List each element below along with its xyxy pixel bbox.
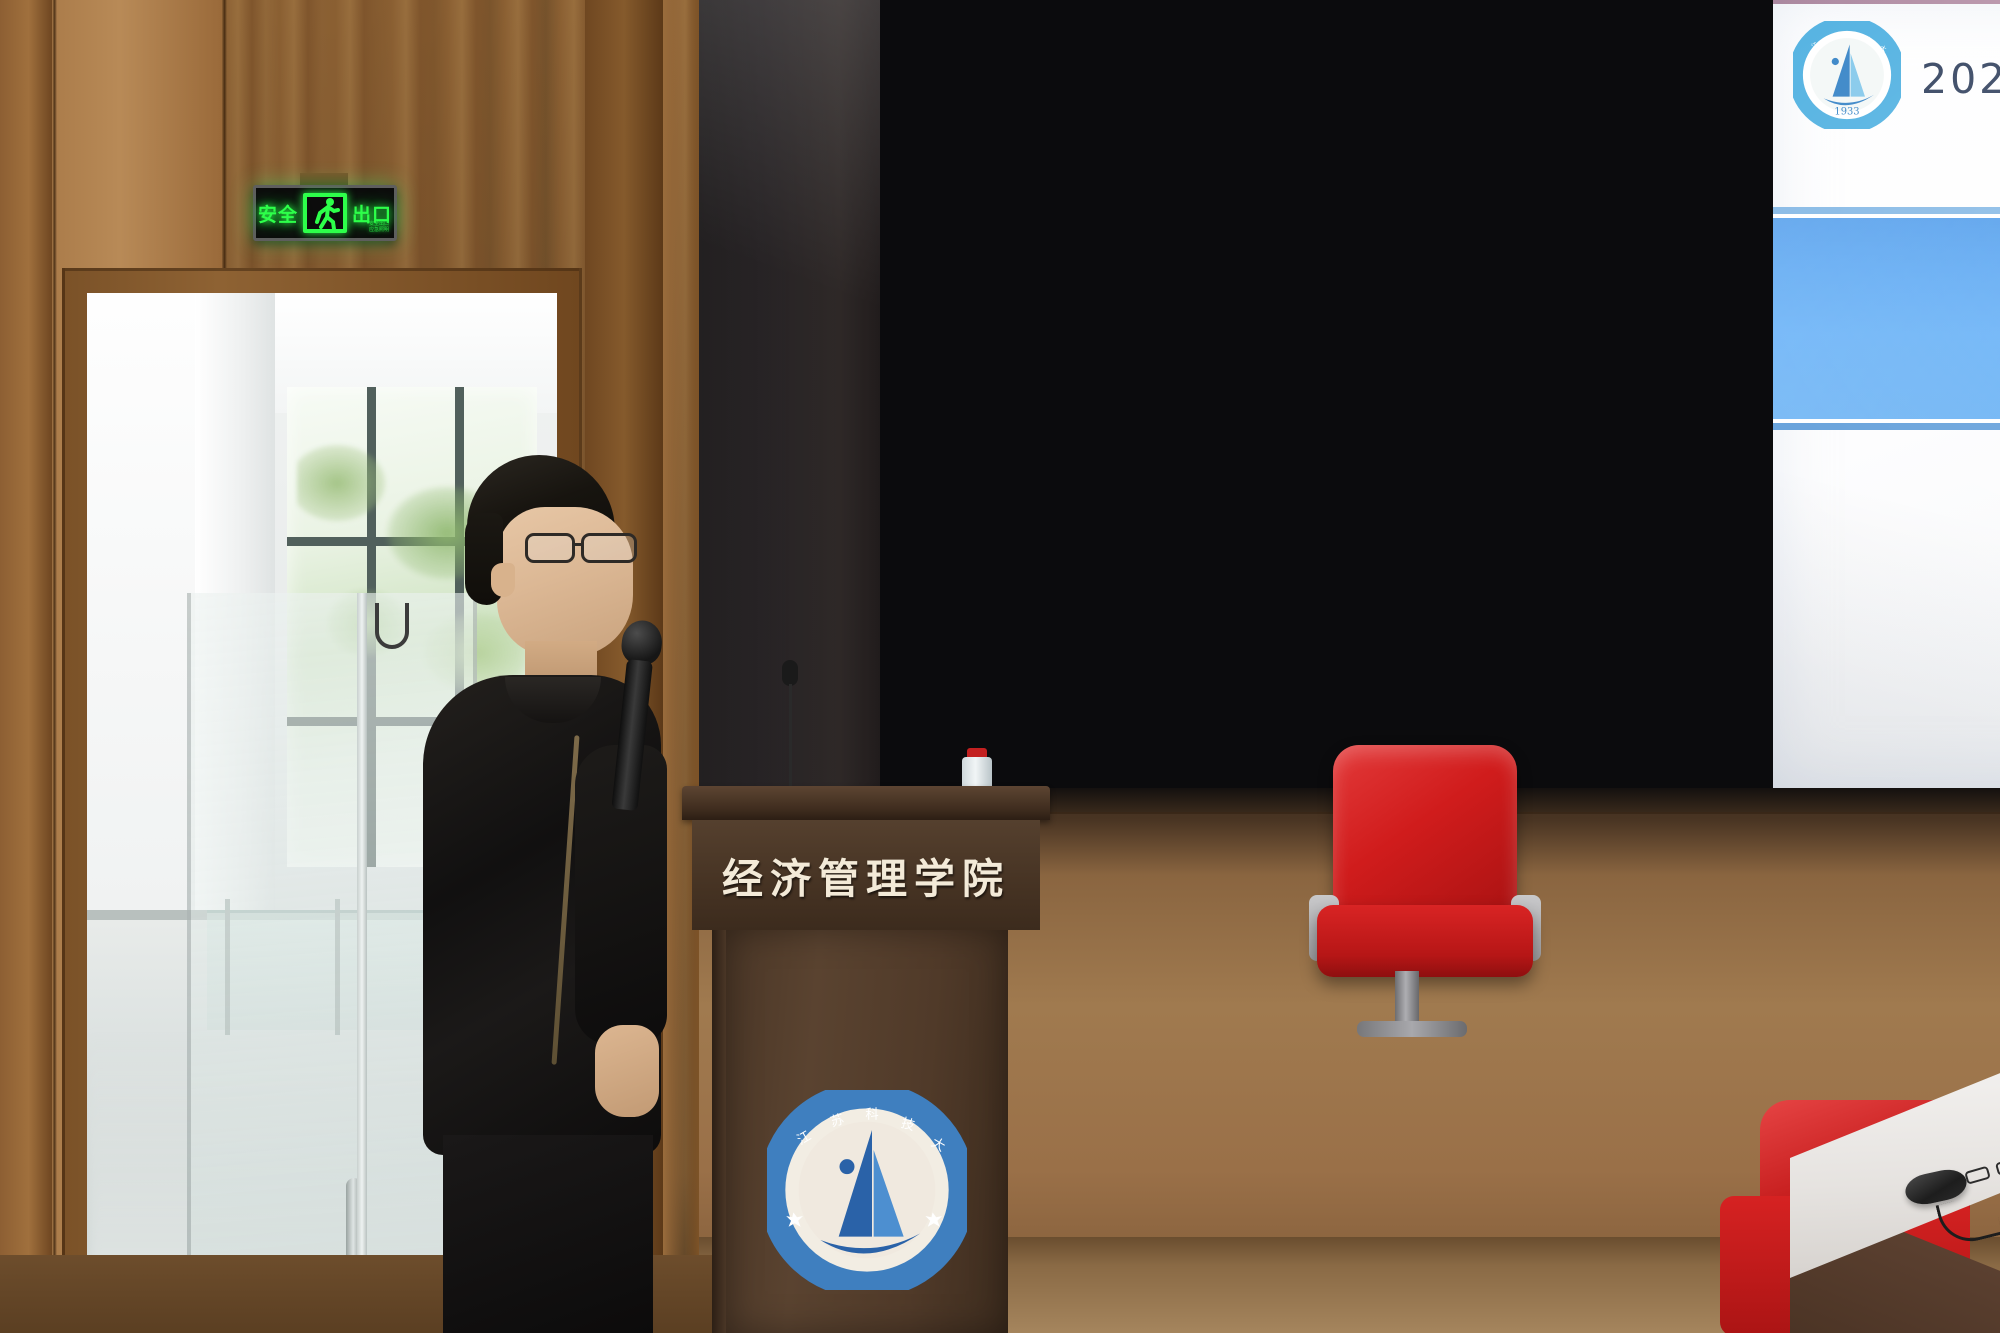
- lectern-body: 江 苏 科 技 大: [726, 930, 1008, 1333]
- slide-presenter-block: 谭志加 华中科技大学 管理学院 2023.10.8: [1773, 470, 2000, 703]
- operator-desk: [1790, 1158, 2000, 1333]
- gooseneck-microphone: [780, 660, 802, 790]
- slide-title-band: 沿海及内河 “绿色航运” 数学建模与分析: [1773, 214, 2000, 423]
- person-ear: [491, 563, 515, 597]
- svg-text:1933: 1933: [1834, 107, 1859, 118]
- exit-sign-small-text: 安全出口应急照明: [369, 222, 389, 233]
- door-edge-strip: [357, 593, 367, 1330]
- running-man-icon: [303, 193, 347, 233]
- person-trousers: [443, 1135, 653, 1333]
- chair-backrest: [1333, 745, 1517, 923]
- hanging-cable-loop: [375, 603, 409, 649]
- microphone-head: [620, 619, 664, 667]
- svg-text:科: 科: [1847, 30, 1854, 39]
- bottle-cap: [967, 748, 987, 757]
- slide-top-accent: [1773, 0, 2000, 4]
- speaker-person: [405, 455, 675, 1333]
- person-hand: [595, 1025, 659, 1117]
- wall-light-glare: [699, 0, 905, 440]
- university-logo-icon: 1933 江 苏 科 技 大: [1793, 21, 1901, 129]
- microphone-body: [611, 659, 653, 811]
- university-logo-icon: 江 苏 科 技 大: [767, 1090, 967, 1290]
- lectern-label: 经济管理学院: [722, 845, 1010, 905]
- microphone-neck: [789, 684, 792, 792]
- eyeglasses-icon: [525, 533, 643, 563]
- slide-header-year: 2023: [1921, 55, 2000, 103]
- emergency-exit-sign: 安全 出口 安全出口应急照明: [253, 185, 397, 241]
- red-office-chair: [1317, 745, 1533, 1040]
- slide-header-title: 2023年第六届中国船海系统工程论坛: [1921, 45, 2000, 105]
- wall-seam: [52, 0, 57, 1333]
- photo-scene: 安全 出口 安全出口应急照明: [0, 0, 2000, 1333]
- wall-board-left: [0, 0, 52, 1333]
- exit-sign-left-label: 安全: [258, 200, 298, 227]
- lectern: 经济管理学院 江 苏 科 技 大: [682, 786, 1050, 1333]
- slide-header: 1933 江 苏 科 技 大 2023年第六届中国船海系统工程论坛: [1773, 14, 2000, 136]
- water-bottle: [962, 748, 992, 790]
- person-face: [497, 507, 633, 657]
- chair-seat: [1317, 905, 1533, 977]
- projection-screen-bezel: 1933 江 苏 科 技 大 2023年第六届中国船海系统工程论坛: [880, 0, 2000, 800]
- lectern-front-panel: 经济管理学院: [692, 820, 1040, 930]
- projection-screen: 1933 江 苏 科 技 大 2023年第六届中国船海系统工程论坛: [1773, 0, 2000, 788]
- svg-text:科: 科: [865, 1106, 878, 1122]
- lectern-desktop: [682, 786, 1050, 820]
- microphone-head: [782, 660, 798, 686]
- chair-base-foot: [1357, 1021, 1467, 1037]
